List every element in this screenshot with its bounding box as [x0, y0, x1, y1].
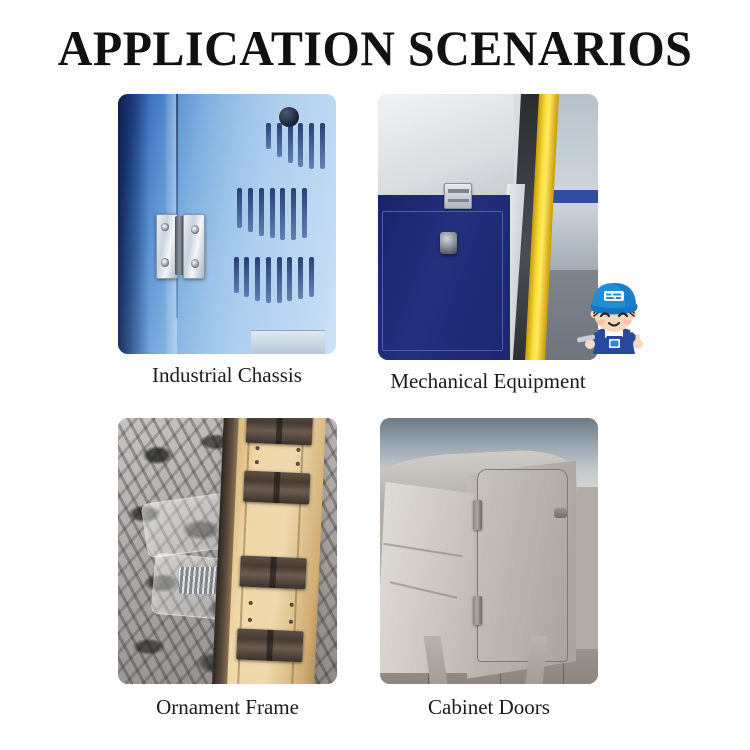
chassis-left-shadow [118, 94, 149, 354]
chassis-bottom-plate [251, 330, 325, 354]
scenario-image-mechanical-equipment [378, 94, 598, 360]
ornament-frame-illustration [118, 418, 337, 684]
chassis-vent-group [234, 115, 330, 318]
cabinet-hinge [473, 596, 483, 625]
cabinet-hinge [473, 500, 483, 529]
equipment-hinge [444, 183, 472, 209]
cabinet-door [477, 469, 568, 663]
mechanical-equipment-illustration [378, 94, 598, 360]
scenario-caption-ornament-frame: Ornament Frame [118, 694, 337, 720]
bronze-hinge [236, 628, 304, 662]
wooden-frame-rail [226, 418, 326, 684]
cabinet-doors-illustration [380, 418, 598, 684]
scenario-caption-industrial-chassis: Industrial Chassis [118, 362, 336, 388]
cabinet-legs [393, 636, 580, 684]
bronze-hinge [243, 471, 311, 505]
blue-chassis-illustration [118, 94, 336, 354]
scenario-image-industrial-chassis [118, 94, 336, 354]
scenario-caption-cabinet-doors: Cabinet Doors [380, 694, 598, 720]
bronze-hinge [245, 418, 313, 445]
chassis-door-seam [176, 94, 178, 318]
scenario-image-ornament-frame [118, 418, 337, 684]
scenario-caption-mechanical-equipment: Mechanical Equipment [378, 368, 598, 394]
stainless-hinge [156, 214, 205, 278]
equipment-lock [440, 232, 458, 253]
bronze-hinge [239, 555, 307, 589]
cabinet-handle [554, 508, 567, 517]
application-scenarios-page: APPLICATION SCENARIOS [0, 0, 750, 750]
engineer-mascot [572, 266, 656, 358]
scenario-image-cabinet-doors [380, 418, 598, 684]
page-title: APPLICATION SCENARIOS [15, 20, 735, 76]
